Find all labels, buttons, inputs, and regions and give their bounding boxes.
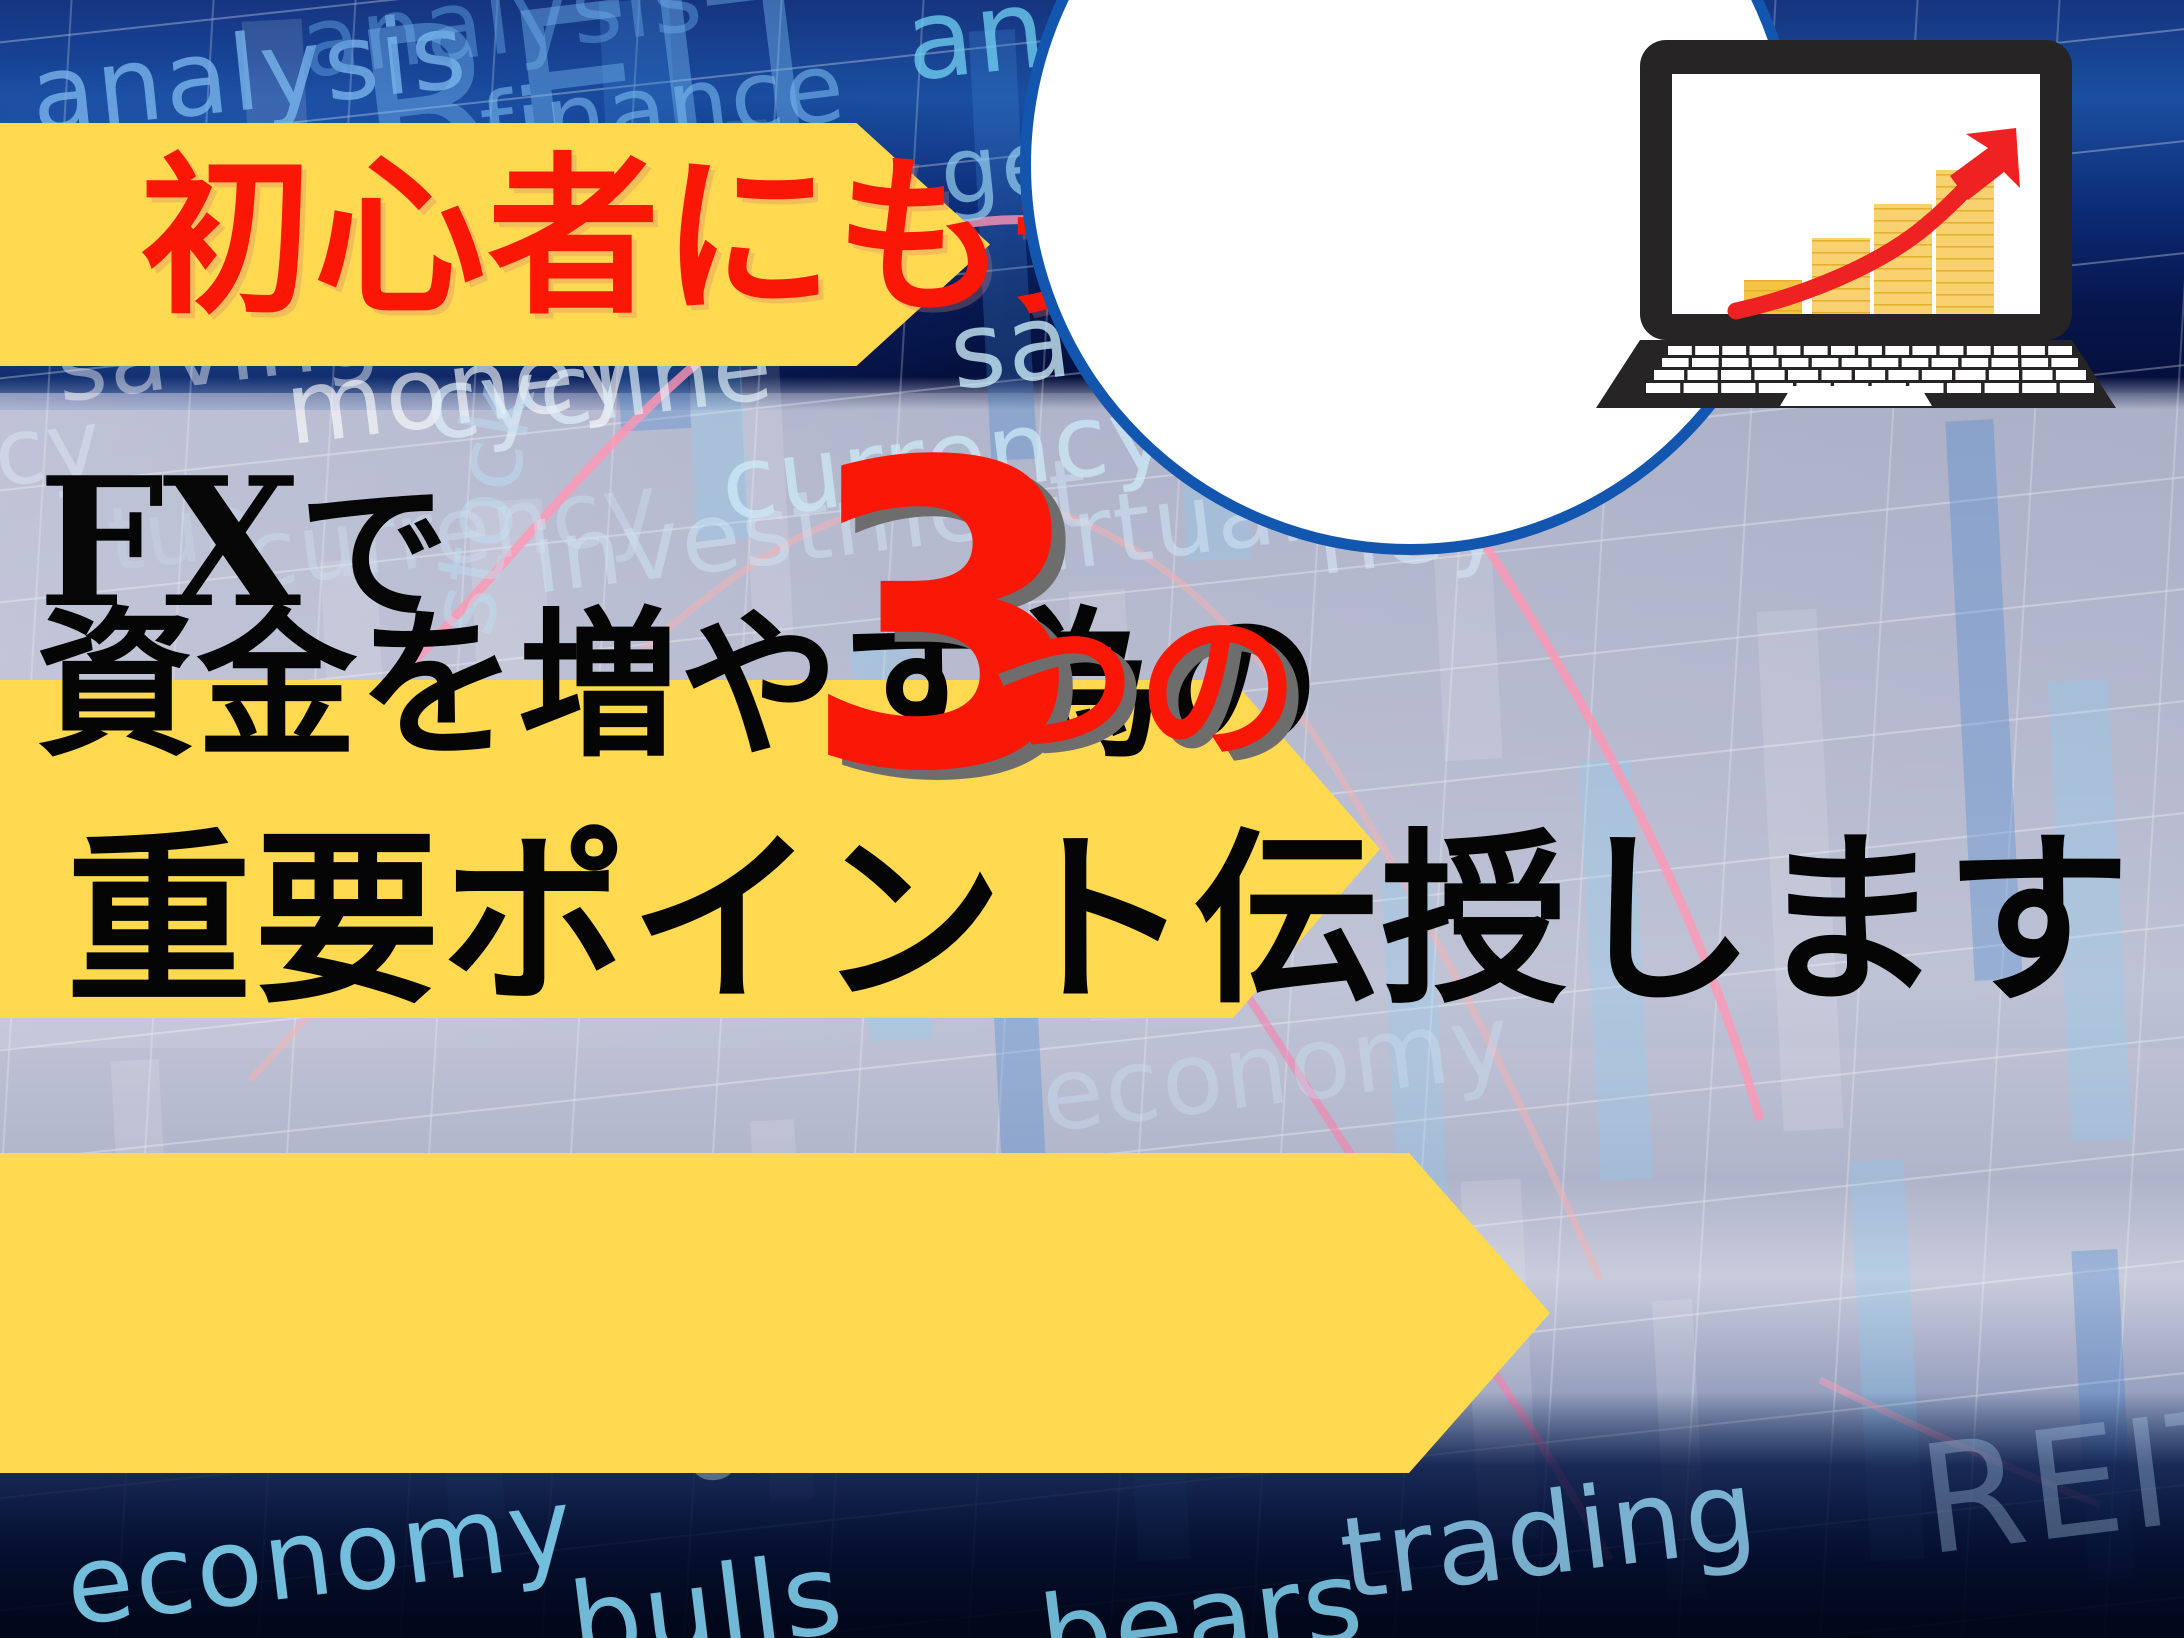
laptop-key-icon [1752, 358, 1779, 367]
laptop-key-icon [1662, 358, 1689, 367]
laptop-key-icon [1994, 346, 2018, 355]
laptop-key-icon [1831, 346, 1855, 355]
laptop-key-icon [1858, 346, 1882, 355]
laptop-key-icon [1812, 358, 1839, 367]
laptop-key-icon [1759, 383, 1793, 393]
laptop-key-icon [1688, 370, 1718, 380]
promo-banner-canvas: analysisanalysisREITfinanceanalyge rsavi… [0, 0, 2184, 1638]
laptop-growth-chart-icon [1596, 28, 2116, 408]
laptop-trackpad-icon [1780, 386, 1932, 406]
laptop-key-icon [1755, 370, 1785, 380]
laptop-key-icon [1955, 370, 1985, 380]
laptop-key-icon [1668, 346, 1692, 355]
laptop-key-icon [1992, 358, 2019, 367]
laptop-key-icon [1989, 370, 2019, 380]
laptop-key-icon [1684, 383, 1718, 393]
laptop-key-icon [2022, 370, 2052, 380]
laptop-key-icon [1888, 370, 1918, 380]
laptop-key-icon [1967, 346, 1991, 355]
arrow-banner-bottom [0, 1153, 1550, 1473]
laptop-key-icon [2022, 358, 2049, 367]
laptop-key-icon [1842, 358, 1869, 367]
laptop-key-icon [1646, 383, 1680, 393]
laptop-key-icon [1721, 383, 1755, 393]
laptop-key-icon [1922, 370, 1952, 380]
laptop-key-icon [1722, 346, 1746, 355]
laptop-key-icon [2060, 383, 2094, 393]
laptop-key-icon [1872, 358, 1899, 367]
laptop-key-icon [1822, 370, 1852, 380]
laptop-key-icon [1654, 370, 1684, 380]
laptop-key-icon [1722, 358, 1749, 367]
headline-count-suffix: つの [975, 608, 1299, 770]
laptop-key-icon [2021, 346, 2045, 355]
laptop-key-icon [1932, 358, 1959, 367]
laptop-key-icon [2051, 358, 2078, 367]
laptop-key-icon [1777, 346, 1801, 355]
laptop-key-icon [1962, 358, 1989, 367]
laptop-key-icon [2056, 370, 2086, 380]
laptop-key-icon [1902, 358, 1929, 367]
laptop-key-icon [1947, 383, 1981, 393]
laptop-key-icon [1721, 370, 1751, 380]
laptop-key-icon [1782, 358, 1809, 367]
laptop-key-icon [1912, 346, 1936, 355]
laptop-key-icon [2022, 383, 2056, 393]
laptop-key-icon [1855, 370, 1885, 380]
laptop-key-icon [1804, 346, 1828, 355]
headline-key-points: 重要ポイント伝授します [66, 828, 2132, 1014]
laptop-key-icon [1940, 346, 1964, 355]
laptop-key-icon [2048, 346, 2072, 355]
laptop-key-icon [1692, 358, 1719, 367]
laptop-key-icon [1885, 346, 1909, 355]
laptop-key-icon [1985, 383, 2019, 393]
laptop-key-icon [1695, 346, 1719, 355]
laptop-key-icon [1788, 370, 1818, 380]
laptop-key-icon [1750, 346, 1774, 355]
